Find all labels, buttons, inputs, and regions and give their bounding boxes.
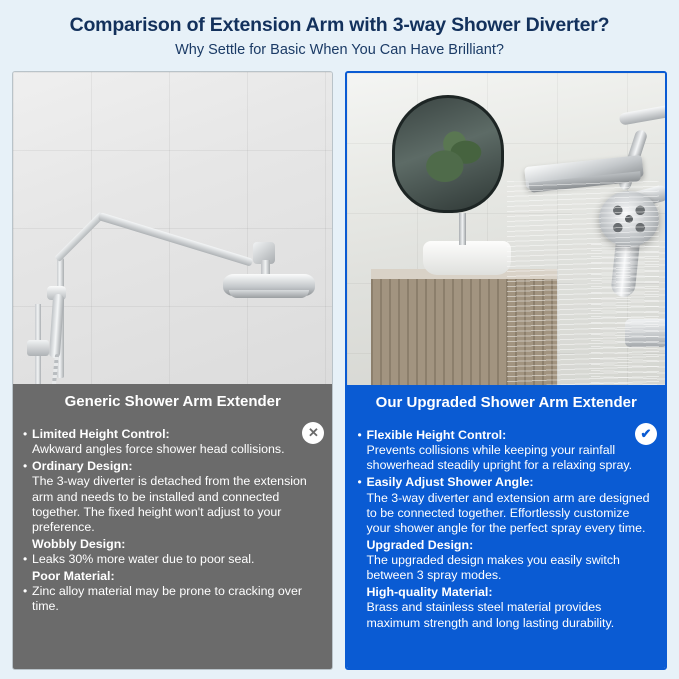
upgraded-shower-arm-photo <box>347 73 665 385</box>
list-item-desc: Prevents collisions while keeping your r… <box>357 443 655 473</box>
list-item-desc: The 3-way diverter is detached from the … <box>23 474 322 535</box>
comparison-infographic: Comparison of Extension Arm with 3-way S… <box>0 0 679 679</box>
list-item: High-quality Material: Brass and stainle… <box>357 585 655 630</box>
panel-generic: Generic Shower Arm Extender • Limited He… <box>12 71 333 670</box>
bullet-icon: • <box>23 584 32 599</box>
list-item: Poor Material: • Zinc alloy material may… <box>23 569 322 614</box>
check-icon: ✔ <box>635 423 657 445</box>
list-item: • Ordinary Design: The 3-way diverter is… <box>23 459 322 535</box>
bullet-icon: • <box>23 459 32 474</box>
list-item-head: Upgraded Design: <box>357 538 655 553</box>
comparison-panels: Generic Shower Arm Extender • Limited He… <box>0 59 679 670</box>
panel-title-upgraded: Our Upgraded Shower Arm Extender <box>347 385 665 419</box>
page-title: Comparison of Extension Arm with 3-way S… <box>10 14 669 36</box>
slide-bracket <box>27 340 49 356</box>
arm-diagonal-segment <box>55 212 105 262</box>
list-item-desc: The upgraded design makes you easily swi… <box>357 553 655 583</box>
list-item-head: Wobbly Design: <box>23 537 322 552</box>
list-item-head: Ordinary Design: <box>32 459 133 474</box>
header: Comparison of Extension Arm with 3-way S… <box>0 0 679 59</box>
panel-body-generic: • Limited Height Control: Awkward angles… <box>13 418 332 669</box>
list-item: • Easily Adjust Shower Angle: The 3-way … <box>357 475 655 536</box>
bullet-icon: • <box>23 552 32 567</box>
panel-body-upgraded: • Flexible Height Control: Prevents coll… <box>347 419 665 668</box>
generic-shower-arm-photo <box>13 72 332 384</box>
bullet-icon: • <box>357 428 366 443</box>
showerhead-face <box>229 290 309 298</box>
faucet-icon <box>459 213 466 245</box>
list-item-head: High-quality Material: <box>357 585 655 600</box>
list-item-head: Limited Height Control: <box>32 427 170 442</box>
list-item-desc: Brass and stainless steel material provi… <box>357 600 655 630</box>
extension-arm-segment <box>98 212 253 266</box>
list-item-desc: Leaks 30% more water due to poor seal. <box>32 552 254 567</box>
list-item-desc: Zinc alloy material may be prone to crac… <box>32 584 322 614</box>
list-item: • Limited Height Control: Awkward angles… <box>23 427 322 457</box>
page-subtitle: Why Settle for Basic When You Can Have B… <box>10 42 669 59</box>
panel-upgraded: Our Upgraded Shower Arm Extender • Flexi… <box>345 71 667 670</box>
plant-icon <box>425 127 491 183</box>
list-item: Upgraded Design: The upgraded design mak… <box>357 538 655 583</box>
list-item-head: Easily Adjust Shower Angle: <box>366 475 533 490</box>
sink-basin <box>423 241 511 275</box>
list-item-desc: Awkward angles force shower head collisi… <box>23 442 322 457</box>
list-item-head: Poor Material: <box>23 569 322 584</box>
bullet-icon: • <box>23 427 32 442</box>
list-item-desc: The 3-way diverter and extension arm are… <box>357 491 655 536</box>
list-item: • Flexible Height Control: Prevents coll… <box>357 428 655 473</box>
bullet-icon: • <box>357 475 366 490</box>
panel-title-generic: Generic Shower Arm Extender <box>13 384 332 418</box>
list-item: Wobbly Design: • Leaks 30% more water du… <box>23 537 322 567</box>
water-spray-secondary <box>591 241 665 385</box>
list-item-head: Flexible Height Control: <box>366 428 506 443</box>
